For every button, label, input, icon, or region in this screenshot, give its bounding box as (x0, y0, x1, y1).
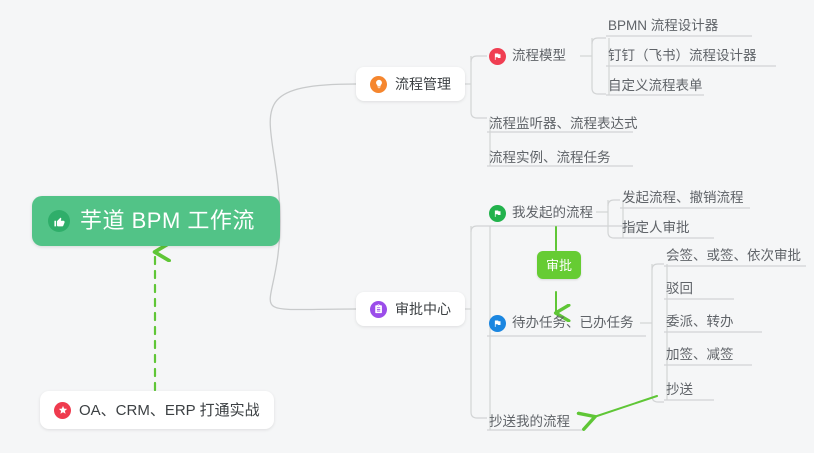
node-assigned-approver[interactable]: 指定人审批 (622, 215, 690, 241)
node-bpmn-designer[interactable]: BPMN 流程设计器 (608, 13, 718, 39)
node-label: 委派、转办 (666, 315, 734, 329)
branch-process-management[interactable]: 流程管理 (356, 67, 465, 101)
node-todo-done-tasks[interactable]: 待办任务、已办任务 (489, 310, 634, 336)
node-cc-to-me-process[interactable]: 抄送我的流程 (489, 409, 570, 435)
flag-icon (489, 315, 506, 332)
node-label: 流程监听器、流程表达式 (489, 117, 638, 131)
node-label: 发起流程、撤销流程 (622, 191, 744, 205)
star-icon (54, 402, 71, 419)
node-delegate-transfer[interactable]: 委派、转办 (666, 309, 734, 335)
node-dingtalk-feishu-designer[interactable]: 钉钉（飞书）流程设计器 (608, 43, 757, 69)
node-label: 自定义流程表单 (608, 79, 703, 93)
node-label: 抄送 (666, 383, 693, 397)
approval-tag[interactable]: 审批 (537, 251, 581, 279)
node-start-cancel-process[interactable]: 发起流程、撤销流程 (622, 185, 744, 211)
node-label: 加签、减签 (666, 348, 734, 362)
node-cc[interactable]: 抄送 (666, 377, 693, 403)
node-countersign-orsign-sequential[interactable]: 会签、或签、依次审批 (666, 243, 801, 269)
node-process-instance-task[interactable]: 流程实例、流程任务 (489, 145, 611, 171)
tag-label: 审批 (546, 259, 572, 272)
node-label: 我发起的流程 (512, 206, 593, 220)
document-icon (370, 301, 387, 318)
node-custom-process-form[interactable]: 自定义流程表单 (608, 73, 703, 99)
node-label: 钉钉（飞书）流程设计器 (608, 49, 757, 63)
node-add-remove-sign[interactable]: 加签、减签 (666, 342, 734, 368)
root-node[interactable]: 芋道 BPM 工作流 (32, 196, 280, 246)
node-label: 流程实例、流程任务 (489, 151, 611, 165)
node-label: 指定人审批 (622, 221, 690, 235)
node-process-model[interactable]: 流程模型 (489, 43, 566, 69)
node-reject[interactable]: 驳回 (666, 276, 693, 302)
root-label: 芋道 BPM 工作流 (80, 210, 255, 232)
flag-icon (489, 205, 506, 222)
lightbulb-icon (370, 76, 387, 93)
node-label: 抄送我的流程 (489, 415, 570, 429)
node-label: 待办任务、已办任务 (512, 316, 634, 330)
flag-icon (489, 48, 506, 65)
node-label: BPMN 流程设计器 (608, 19, 718, 33)
node-my-initiated-process[interactable]: 我发起的流程 (489, 200, 593, 226)
node-label: 驳回 (666, 282, 693, 296)
branch-approval-center[interactable]: 审批中心 (356, 292, 465, 326)
branch-label: 流程管理 (395, 77, 451, 91)
branch-label: 审批中心 (395, 302, 451, 316)
mindmap-canvas: 芋道 BPM 工作流 流程管理 审批中心 流程模型 流程监听器、流程表达式 流程 (0, 0, 814, 453)
node-process-listener-expression[interactable]: 流程监听器、流程表达式 (489, 111, 638, 137)
thumbs-up-icon (48, 210, 70, 232)
floating-node-label: OA、CRM、ERP 打通实战 (79, 403, 260, 418)
node-label: 流程模型 (512, 49, 566, 63)
node-label: 会签、或签、依次审批 (666, 249, 801, 263)
floating-node-oa-crm-erp[interactable]: OA、CRM、ERP 打通实战 (40, 391, 274, 429)
